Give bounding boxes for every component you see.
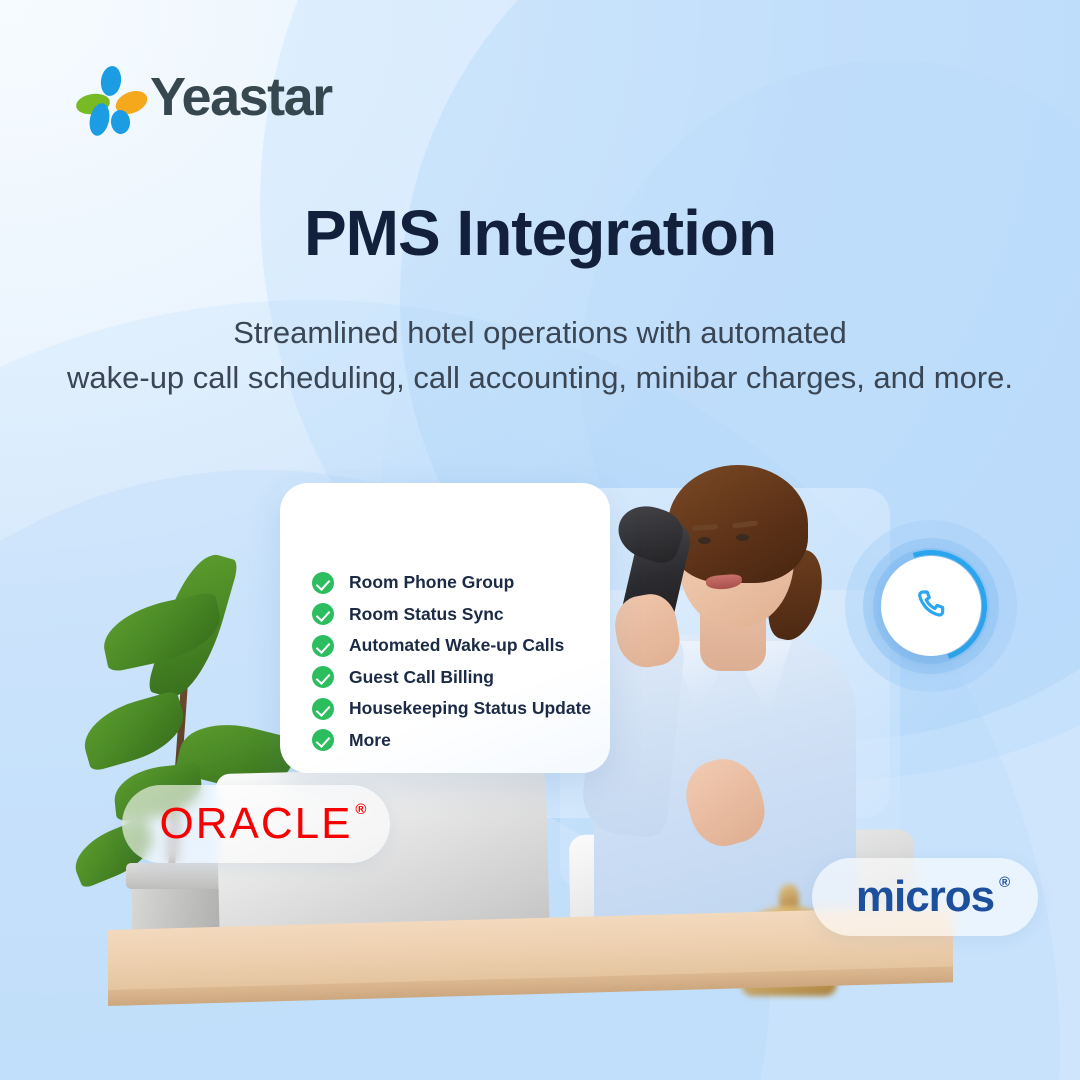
check-circle-icon [312, 572, 334, 594]
partner-badge-micros[interactable]: micros® [812, 858, 1038, 936]
feature-item[interactable]: Housekeeping Status Update [312, 693, 632, 725]
plant-leaf [76, 690, 191, 772]
feature-label: Automated Wake-up Calls [349, 635, 564, 656]
check-circle-icon [312, 729, 334, 751]
phone-handset-icon [911, 586, 951, 626]
feature-label: Housekeeping Status Update [349, 698, 591, 719]
micros-label: micros [856, 872, 994, 921]
feature-label: Guest Call Billing [349, 667, 494, 688]
micros-wordmark: micros® [856, 872, 994, 922]
feature-item[interactable]: Room Phone Group [312, 567, 632, 599]
feature-label: Room Phone Group [349, 572, 514, 593]
badge-circle [881, 556, 981, 656]
page-subtitle: Streamlined hotel operations with automa… [0, 310, 1080, 401]
oracle-trademark: ® [355, 801, 368, 818]
oracle-wordmark: ORACLE® [160, 799, 353, 849]
person-eye-right [736, 534, 749, 541]
person-eye-left [698, 537, 711, 544]
brand-wordmark: Yeastar [150, 66, 332, 128]
check-circle-icon [312, 603, 334, 625]
feature-item[interactable]: Automated Wake-up Calls [312, 630, 632, 662]
phone-call-badge[interactable] [845, 520, 1017, 692]
feature-list-card: Room Phone Group Room Status Sync Automa… [280, 483, 610, 773]
check-circle-icon [312, 666, 334, 688]
feature-item[interactable]: Guest Call Billing [312, 662, 632, 694]
feature-label: Room Status Sync [349, 604, 504, 625]
subtitle-line-2: wake-up call scheduling, call accounting… [0, 355, 1080, 400]
page-title: PMS Integration [0, 196, 1080, 270]
subtitle-line-1: Streamlined hotel operations with automa… [233, 315, 846, 350]
feature-item[interactable]: More [312, 725, 632, 757]
logo-petal-top [99, 65, 123, 97]
poster-canvas: Yeastar PMS Integration Streamlined hote… [0, 0, 1080, 1080]
feature-list: Room Phone Group Room Status Sync Automa… [312, 567, 632, 756]
check-circle-icon [312, 698, 334, 720]
micros-trademark: ® [999, 874, 1009, 891]
hero-scene: Room Phone Group Room Status Sync Automa… [0, 440, 1080, 1080]
feature-label: More [349, 730, 391, 751]
partner-badge-oracle[interactable]: ORACLE® [122, 785, 390, 863]
brand-logo[interactable]: Yeastar [78, 66, 332, 128]
yeastar-pinwheel-icon [78, 66, 136, 128]
oracle-label: ORACLE [160, 799, 353, 848]
feature-item[interactable]: Room Status Sync [312, 599, 632, 631]
plant-leaf [97, 591, 226, 673]
check-circle-icon [312, 635, 334, 657]
